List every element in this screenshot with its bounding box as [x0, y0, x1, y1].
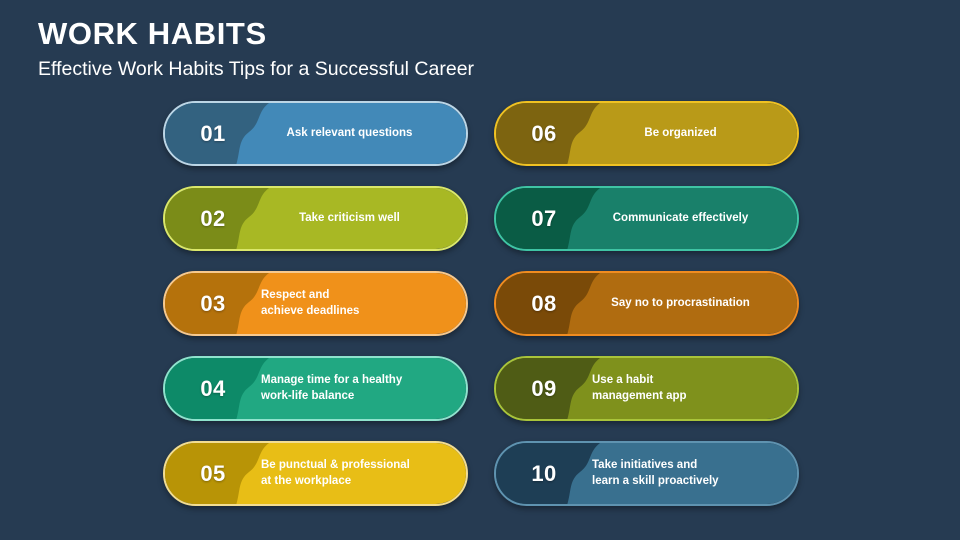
card-label: Use a habitmanagement app: [592, 373, 797, 404]
card-label: Be punctual & professionalat the workpla…: [261, 458, 466, 489]
page-subtitle: Effective Work Habits Tips for a Success…: [38, 58, 898, 81]
habit-card[interactable]: 09Use a habitmanagement app: [494, 356, 799, 421]
habit-card[interactable]: 08Say no to procrastination: [494, 271, 799, 336]
card-label-line: Take initiatives and: [592, 458, 781, 473]
card-label: Take initiatives andlearn a skill proact…: [592, 458, 797, 489]
card-label: Say no to procrastination: [592, 296, 797, 311]
card-label: Manage time for a healthywork-life balan…: [261, 373, 466, 404]
habit-card[interactable]: 06Be organized: [494, 101, 799, 166]
habit-card[interactable]: 01Ask relevant questions: [163, 101, 468, 166]
card-label-line: achieve deadlines: [261, 304, 450, 319]
habit-card[interactable]: 05Be punctual & professionalat the workp…: [163, 441, 468, 506]
habit-card-grid: 01Ask relevant questions02Take criticism…: [163, 101, 799, 526]
card-label-line: Say no to procrastination: [592, 296, 769, 311]
card-label: Respect andachieve deadlines: [261, 288, 466, 319]
habit-card[interactable]: 04Manage time for a healthywork-life bal…: [163, 356, 468, 421]
card-label: Take criticism well: [261, 211, 466, 226]
card-number: 02: [165, 206, 261, 232]
card-label: Communicate effectively: [592, 211, 797, 226]
habit-card[interactable]: 02Take criticism well: [163, 186, 468, 251]
card-number: 10: [496, 461, 592, 487]
card-label-line: work-life balance: [261, 389, 450, 404]
card-number: 05: [165, 461, 261, 487]
slide-canvas: WORK HABITS Effective Work Habits Tips f…: [0, 0, 960, 540]
page-title: WORK HABITS: [38, 16, 898, 52]
card-label-line: Ask relevant questions: [261, 126, 438, 141]
card-label-line: learn a skill proactively: [592, 474, 781, 489]
card-number: 01: [165, 121, 261, 147]
habit-card[interactable]: 07Communicate effectively: [494, 186, 799, 251]
card-label-line: Manage time for a healthy: [261, 373, 450, 388]
card-number: 07: [496, 206, 592, 232]
card-label-line: management app: [592, 389, 781, 404]
card-label-line: Communicate effectively: [592, 211, 769, 226]
card-number: 04: [165, 376, 261, 402]
card-label-line: Take criticism well: [261, 211, 438, 226]
habit-card[interactable]: 10Take initiatives andlearn a skill proa…: [494, 441, 799, 506]
slide-header: WORK HABITS Effective Work Habits Tips f…: [38, 16, 898, 81]
card-number: 03: [165, 291, 261, 317]
card-number: 09: [496, 376, 592, 402]
card-label-line: at the workplace: [261, 474, 450, 489]
card-label-line: Respect and: [261, 288, 450, 303]
habit-card[interactable]: 03Respect andachieve deadlines: [163, 271, 468, 336]
card-number: 06: [496, 121, 592, 147]
card-label: Ask relevant questions: [261, 126, 466, 141]
card-label-line: Be punctual & professional: [261, 458, 450, 473]
card-label-line: Be organized: [592, 126, 769, 141]
card-label-line: Use a habit: [592, 373, 781, 388]
card-number: 08: [496, 291, 592, 317]
card-label: Be organized: [592, 126, 797, 141]
